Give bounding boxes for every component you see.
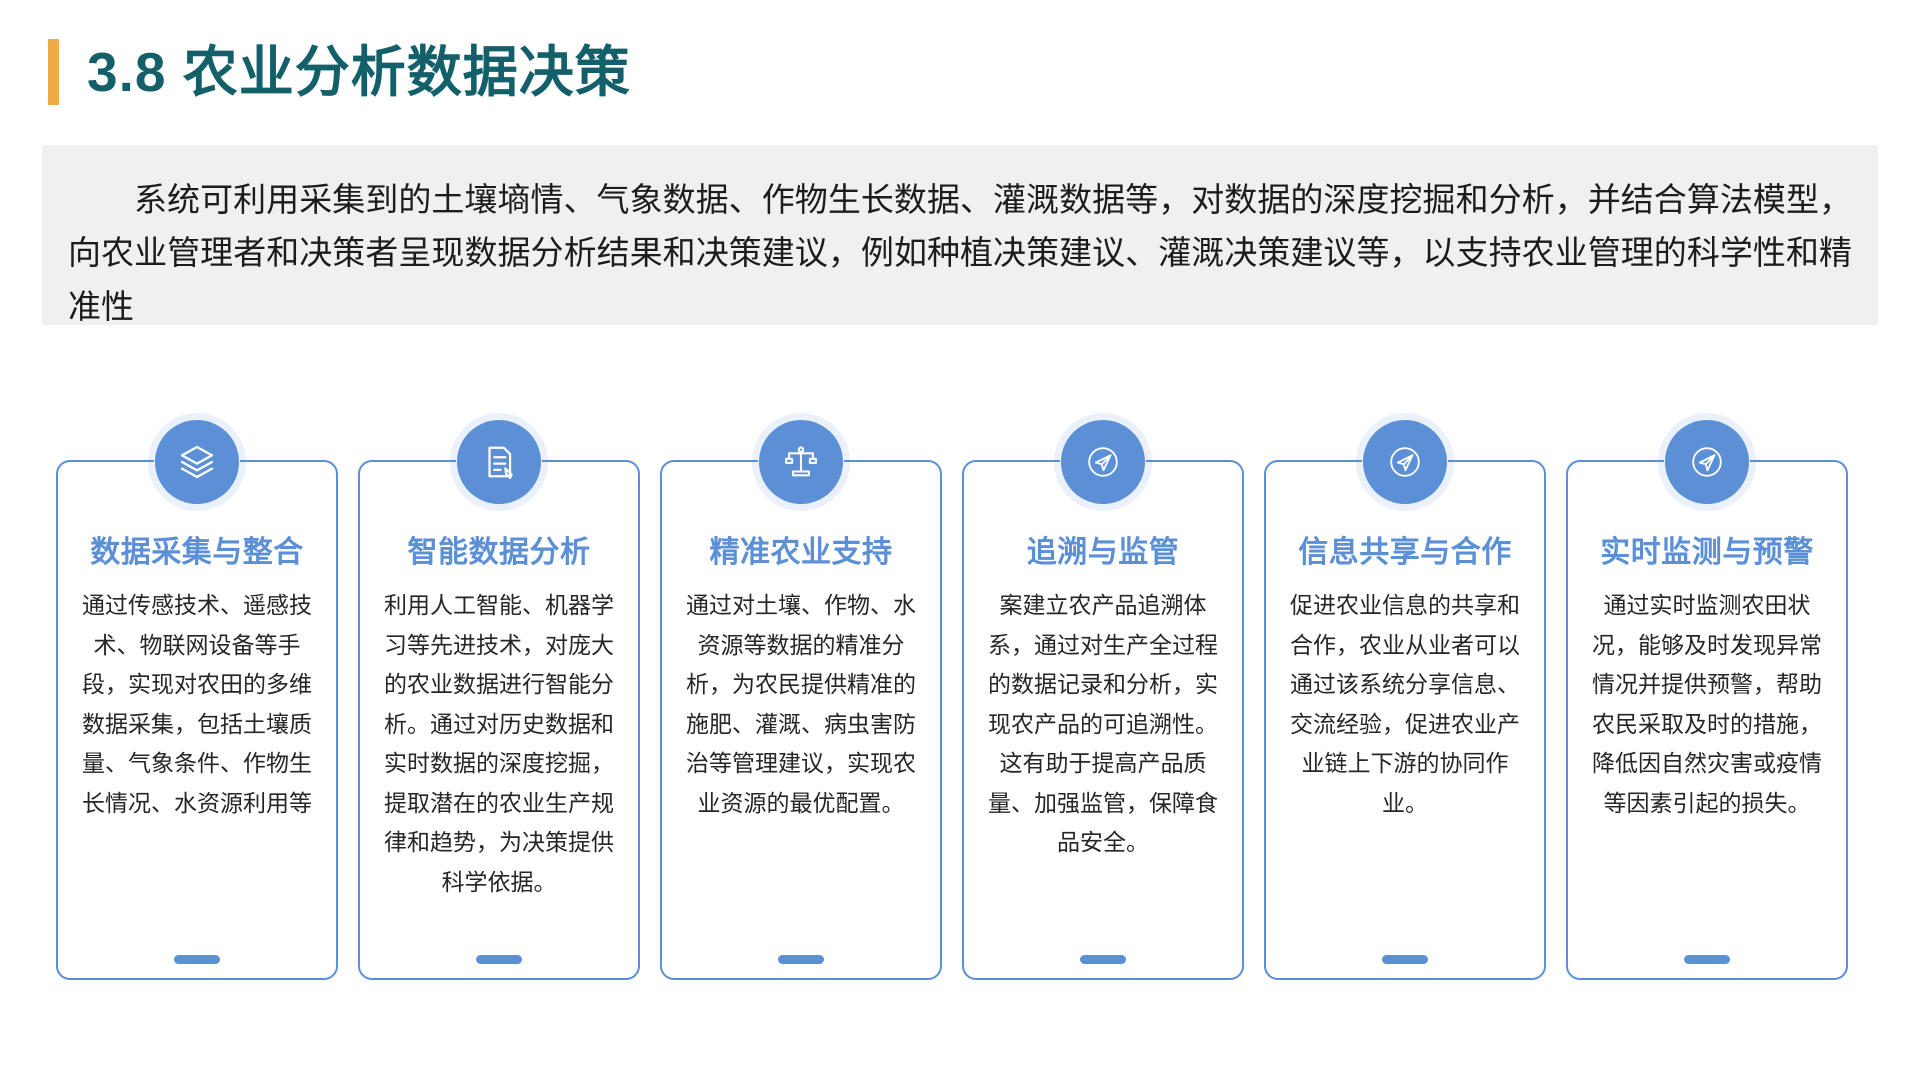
card-wrapper-1: 数据采集与整合 通过传感技术、遥感技术、物联网设备等手段，实现对农田的多维数据采… [56,418,338,980]
intro-paragraph: 系统可利用采集到的土壤墒情、气象数据、作物生长数据、灌溉数据等，对数据的深度挖掘… [68,173,1852,333]
card-title: 智能数据分析 [408,536,591,569]
paper-plane-icon [1665,420,1749,504]
card-title: 数据采集与整合 [90,536,304,569]
card-wrapper-4: 追溯与监管 案建立农产品追溯体系，通过对生产全过程的数据记录和分析，实现农产品的… [962,418,1244,980]
paper-plane-icon [1061,420,1145,504]
card-body: 促进农业信息的共享和合作，农业从业者可以通过该系统分享信息、交流经验，促进农业产… [1282,587,1528,824]
slide-root: 3.8 农业分析数据决策 系统可利用采集到的土壤墒情、气象数据、作物生长数据、灌… [0,0,1920,1080]
card-accent-pill [174,955,220,964]
card-title: 追溯与监管 [1027,536,1180,569]
feature-card[interactable]: 数据采集与整合 通过传感技术、遥感技术、物联网设备等手段，实现对农田的多维数据采… [56,460,338,980]
card-wrapper-3: 精准农业支持 通过对土壤、作物、水资源等数据的精准分析，为农民提供精准的施肥、灌… [660,418,942,980]
card-accent-pill [476,955,522,964]
card-body: 通过对土壤、作物、水资源等数据的精准分析，为农民提供精准的施肥、灌溉、病虫害防治… [678,587,924,824]
card-accent-pill [778,955,824,964]
card-wrapper-2: 智能数据分析 利用人工智能、机器学习等先进技术，对庞大的农业数据进行智能分析。通… [358,418,640,980]
feature-card[interactable]: 智能数据分析 利用人工智能、机器学习等先进技术，对庞大的农业数据进行智能分析。通… [358,460,640,980]
card-accent-pill [1684,955,1730,964]
balance-scale-icon [759,420,843,504]
card-body: 通过实时监测农田状况，能够及时发现异常情况并提供预警，帮助农民采取及时的措施，降… [1584,587,1830,824]
card-accent-pill [1382,955,1428,964]
card-accent-pill [1080,955,1126,964]
feature-card[interactable]: 追溯与监管 案建立农产品追溯体系，通过对生产全过程的数据记录和分析，实现农产品的… [962,460,1244,980]
page-title: 3.8 农业分析数据决策 [87,45,631,100]
card-wrapper-5: 信息共享与合作 促进农业信息的共享和合作，农业从业者可以通过该系统分享信息、交流… [1264,418,1546,980]
card-body: 利用人工智能、机器学习等先进技术，对庞大的农业数据进行智能分析。通过对历史数据和… [376,587,622,903]
paper-plane-icon [1363,420,1447,504]
heading-accent-bar [48,39,59,105]
page-heading: 3.8 农业分析数据决策 [48,36,631,108]
card-title: 精准农业支持 [710,536,893,569]
feature-card[interactable]: 精准农业支持 通过对土壤、作物、水资源等数据的精准分析，为农民提供精准的施肥、灌… [660,460,942,980]
card-title: 实时监测与预警 [1600,536,1814,569]
feature-card[interactable]: 信息共享与合作 促进农业信息的共享和合作，农业从业者可以通过该系统分享信息、交流… [1264,460,1546,980]
feature-card[interactable]: 实时监测与预警 通过实时监测农田状况，能够及时发现异常情况并提供预警，帮助农民采… [1566,460,1848,980]
card-title: 信息共享与合作 [1298,536,1512,569]
card-body: 通过传感技术、遥感技术、物联网设备等手段，实现对农田的多维数据采集，包括土壤质量… [74,587,320,824]
intro-band: 系统可利用采集到的土壤墒情、气象数据、作物生长数据、灌溉数据等，对数据的深度挖掘… [42,145,1878,325]
document-list-icon [457,420,541,504]
layers-icon [155,420,239,504]
card-body: 案建立农产品追溯体系，通过对生产全过程的数据记录和分析，实现农产品的可追溯性。这… [980,587,1226,864]
card-wrapper-6: 实时监测与预警 通过实时监测农田状况，能够及时发现异常情况并提供预警，帮助农民采… [1566,418,1848,980]
feature-card-row: 数据采集与整合 通过传感技术、遥感技术、物联网设备等手段，实现对农田的多维数据采… [56,418,1868,980]
